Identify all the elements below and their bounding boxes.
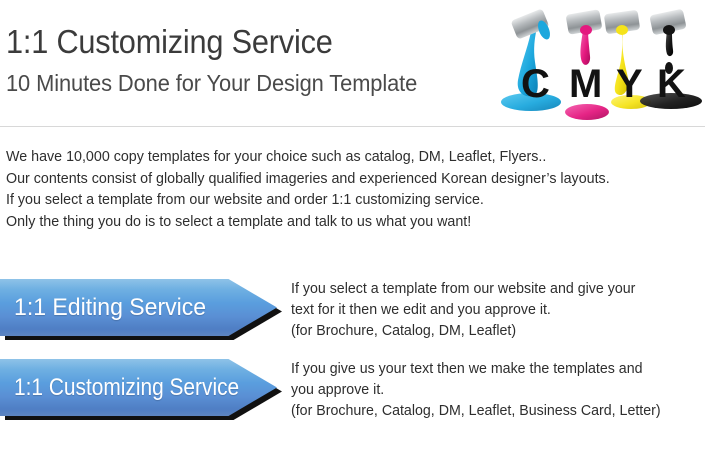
page-subtitle: 10 Minutes Done for Your Design Template <box>6 68 417 98</box>
intro-line: Only the thing you do is to select a tem… <box>6 212 691 234</box>
service-banner-editing[interactable]: 1:1 Editing Service <box>0 279 282 341</box>
logo-letter-y: Y <box>616 62 643 106</box>
logo-letter-m: M <box>569 62 602 106</box>
intro-paragraph: We have 10,000 copy templates for your c… <box>6 147 701 233</box>
banner-label: 1:1 Customizing Service <box>14 375 239 401</box>
service-description: If you select a template from our websit… <box>291 279 705 342</box>
banner-label: 1:1 Editing Service <box>14 295 206 321</box>
logo-letter-k: K <box>657 62 686 106</box>
cmyk-logo-graphic: C M Y K <box>491 2 703 124</box>
description-line: text for it then we edit and you approve… <box>291 300 697 321</box>
description-line: If you give us your text then we make th… <box>291 359 697 380</box>
title-block: 1:1 Customizing Service 10 Minutes Done … <box>6 22 439 98</box>
page-title: 1:1 Customizing Service <box>6 22 409 62</box>
intro-line: We have 10,000 copy templates for your c… <box>6 147 691 169</box>
service-description: If you give us your text then we make th… <box>291 359 705 422</box>
intro-line: If you select a template from our websit… <box>6 190 691 212</box>
header-divider <box>0 126 705 127</box>
magenta-pour <box>580 30 590 65</box>
banner-arrow[interactable]: 1:1 Customizing Service <box>0 359 277 416</box>
service-row: 1:1 Customizing Service If you give us y… <box>0 359 705 421</box>
description-line: you approve it. <box>291 380 697 401</box>
description-line: (for Brochure, Catalog, DM, Leaflet) <box>291 321 697 342</box>
banner-arrow[interactable]: 1:1 Editing Service <box>0 279 277 336</box>
service-row: 1:1 Editing Service If you select a temp… <box>0 279 705 341</box>
service-banner-customizing[interactable]: 1:1 Customizing Service <box>0 359 282 421</box>
black-can <box>649 9 686 36</box>
page-header: 1:1 Customizing Service 10 Minutes Done … <box>0 0 705 126</box>
intro-line: Our contents consist of globally qualifi… <box>6 169 691 191</box>
description-line: (for Brochure, Catalog, DM, Leaflet, Bus… <box>291 401 697 422</box>
cmyk-paint-logo: C M Y K <box>491 2 703 124</box>
magenta-puddle <box>565 104 609 120</box>
logo-letter-c: C <box>521 62 550 106</box>
description-line: If you select a template from our websit… <box>291 279 697 300</box>
yellow-can <box>604 10 640 35</box>
magenta-can <box>566 9 603 35</box>
